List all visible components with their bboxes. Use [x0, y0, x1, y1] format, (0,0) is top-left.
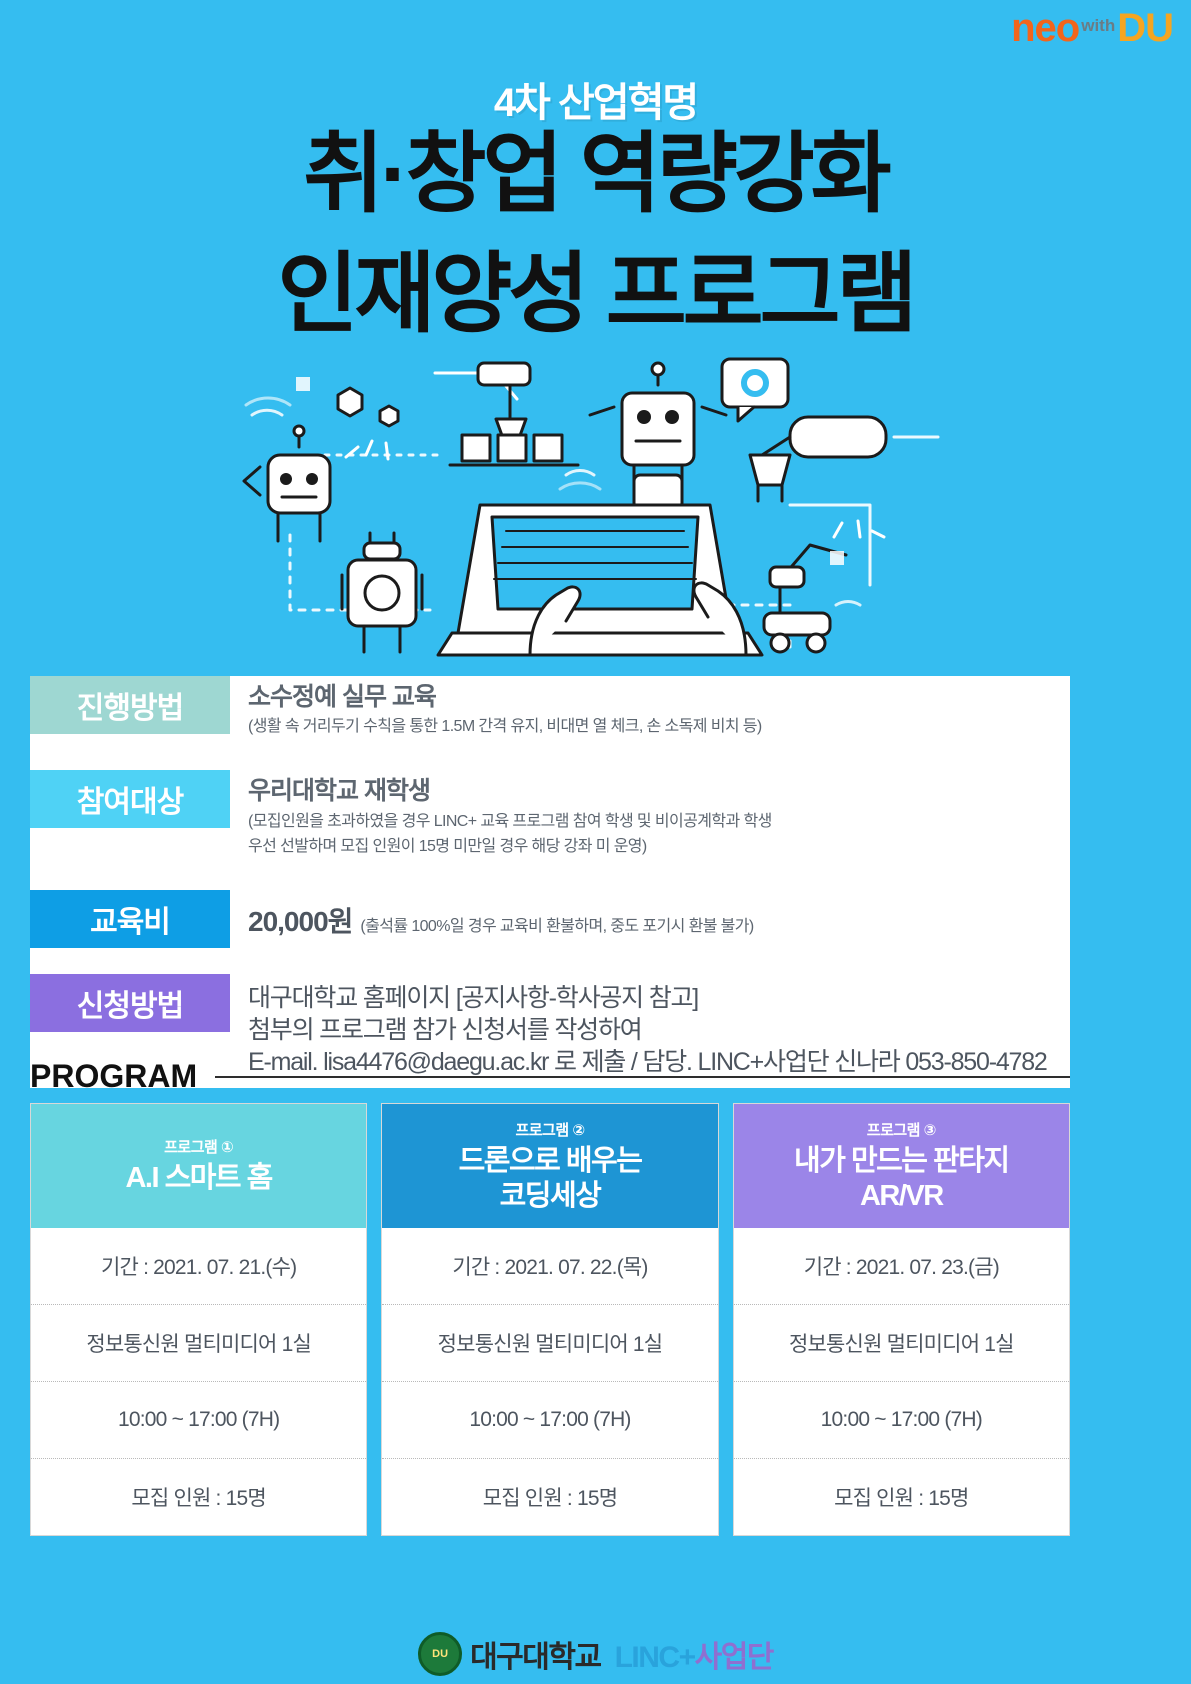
row-divider-1 — [30, 744, 1070, 770]
info-body-fee: 20,000원 (출석률 100%일 경우 교육비 환불하며, 중도 포기시 환… — [230, 890, 1070, 946]
info-body-target: 우리대학교 재학생 (모집인원을 초과하였을 경우 LINC+ 교육 프로그램 … — [230, 770, 1070, 864]
info-label-method: 진행방법 — [30, 676, 230, 734]
logo-with-text: with — [1081, 17, 1115, 34]
main-title-line-2: 인재양성 프로그램 — [0, 248, 1191, 340]
program-card-2-title-line-2: 코딩세상 — [459, 1179, 642, 1213]
program-card-3-place: 정보통신원 멀티미디어 1실 — [734, 1305, 1069, 1382]
program-card-3-time: 10:00 ~ 17:00 (7H) — [734, 1382, 1069, 1459]
industry-illustration — [230, 355, 960, 675]
university-seal-icon: DU — [418, 1632, 462, 1676]
linc-logo: LINC+사업단 — [615, 1632, 773, 1676]
program-card-1-period: 기간 : 2021. 07. 21.(수) — [31, 1228, 366, 1305]
linc-division-text: 사업단 — [695, 1641, 773, 1674]
program-heading-rule — [215, 1076, 1070, 1078]
program-heading-text: PROGRAM — [30, 1058, 197, 1095]
info-row-method: 진행방법 소수정예 실무 교육 (생활 속 거리두기 수칙을 통한 1.5M 간… — [30, 676, 1070, 744]
program-section-header: PROGRAM — [30, 1058, 1070, 1095]
program-card-2[interactable]: 프로그램 ② 드론으로 배우는 코딩세상 기간 : 2021. 07. 22.(… — [381, 1103, 718, 1536]
info-row-fee: 교육비 20,000원 (출석률 100%일 경우 교육비 환불하며, 중도 포… — [30, 890, 1070, 948]
program-card-2-title-line-1: 드론으로 배우는 — [459, 1144, 642, 1178]
poster-root: neo with DU 4차 산업혁명 취·창업 역량강화 인재양성 프로그램 — [0, 0, 1191, 1684]
program-card-1-title: A.I 스마트 홈 — [125, 1161, 271, 1195]
info-label-target: 참여대상 — [30, 770, 230, 828]
program-card-1-place: 정보통신원 멀티미디어 1실 — [31, 1305, 366, 1382]
footer-logos: DU 대구대학교 LINC+사업단 — [0, 1632, 1191, 1676]
university-logo: DU 대구대학교 — [418, 1632, 601, 1676]
program-card-3-title: 내가 만드는 판타지 AR/VR — [794, 1144, 1009, 1212]
main-title-line-1: 취·창업 역량강화 — [0, 128, 1191, 220]
info-sub-target-1: (모집인원을 초과하였을 경우 LINC+ 교육 프로그램 참여 학생 및 비이… — [248, 810, 1070, 833]
conveyor-boxes — [450, 435, 578, 465]
eyebrow-title: 4차 산업혁명 — [0, 70, 1191, 128]
linc-plus-text: LINC+ — [615, 1641, 695, 1674]
logo-du-text: DU — [1117, 8, 1173, 48]
program-card-1-tag: 프로그램 ① — [164, 1136, 233, 1157]
program-card-2-capacity: 모집 인원 : 15명 — [382, 1459, 717, 1535]
info-label-apply: 신청방법 — [30, 974, 230, 1032]
info-row-target: 참여대상 우리대학교 재학생 (모집인원을 초과하였을 경우 LINC+ 교육 … — [30, 770, 1070, 864]
program-card-2-period: 기간 : 2021. 07. 22.(목) — [382, 1228, 717, 1305]
fee-note: (출석률 100%일 경우 교육비 환불하며, 중도 포기시 환불 불가) — [360, 912, 753, 936]
info-sub-method-1: (생활 속 거리두기 수칙을 통한 1.5M 간격 유지, 비대면 열 체크, … — [248, 715, 1070, 738]
fee-amount: 20,000원 — [248, 900, 352, 940]
program-card-3-title-line-2: AR/VR — [794, 1179, 1009, 1213]
program-card-3-title-line-1: 내가 만드는 판타지 — [794, 1144, 1009, 1178]
program-card-2-place: 정보통신원 멀티미디어 1실 — [382, 1305, 717, 1382]
row-divider-3 — [30, 948, 1070, 974]
robot-arm-right — [750, 417, 938, 501]
info-main-method: 소수정예 실무 교육 — [248, 682, 1070, 713]
university-seal-text: DU — [432, 1648, 448, 1660]
program-card-1[interactable]: 프로그램 ① A.I 스마트 홈 기간 : 2021. 07. 21.(수) 정… — [30, 1103, 367, 1536]
program-card-2-time: 10:00 ~ 17:00 (7H) — [382, 1382, 717, 1459]
university-name: 대구대학교 — [470, 1632, 601, 1676]
rover-arm — [764, 545, 860, 652]
info-body-method: 소수정예 실무 교육 (생활 속 거리두기 수칙을 통한 1.5M 간격 유지,… — [230, 676, 1070, 744]
robot-left — [244, 398, 330, 541]
logo-neo-text: neo — [1011, 8, 1079, 48]
program-card-1-time: 10:00 ~ 17:00 (7H) — [31, 1382, 366, 1459]
program-card-3-capacity: 모집 인원 : 15명 — [734, 1459, 1069, 1535]
program-card-3-header: 프로그램 ③ 내가 만드는 판타지 AR/VR — [734, 1104, 1069, 1228]
robot-center — [590, 363, 726, 509]
apply-line-1: 대구대학교 홈페이지 [공지사항-학사공지 참고] — [248, 982, 1047, 1014]
row-divider-2 — [30, 864, 1070, 890]
settings-bubble — [722, 359, 788, 421]
info-sub-target-2: 우선 선발하며 모집 인원이 15명 미만일 경우 해당 강좌 미 운영) — [248, 835, 1070, 858]
program-card-3-tag: 프로그램 ③ — [867, 1119, 936, 1140]
info-panel: 진행방법 소수정예 실무 교육 (생활 속 거리두기 수칙을 통한 1.5M 간… — [30, 676, 1070, 1088]
program-card-1-capacity: 모집 인원 : 15명 — [31, 1459, 366, 1535]
neo-with-du-logo: neo with DU — [1011, 8, 1173, 48]
program-card-3-period: 기간 : 2021. 07. 23.(금) — [734, 1228, 1069, 1305]
robot-arm-top — [435, 363, 530, 441]
apply-line-2: 첨부의 프로그램 참가 신청서를 작성하여 — [248, 1014, 1047, 1046]
info-label-fee: 교육비 — [30, 890, 230, 948]
program-card-2-header: 프로그램 ② 드론으로 배우는 코딩세상 — [382, 1104, 717, 1228]
program-card-1-header: 프로그램 ① A.I 스마트 홈 — [31, 1104, 366, 1228]
program-card-list: 프로그램 ① A.I 스마트 홈 기간 : 2021. 07. 21.(수) 정… — [30, 1103, 1070, 1536]
info-main-target: 우리대학교 재학생 — [248, 776, 1070, 807]
program-card-2-title: 드론으로 배우는 코딩세상 — [459, 1144, 642, 1212]
program-card-3[interactable]: 프로그램 ③ 내가 만드는 판타지 AR/VR 기간 : 2021. 07. 2… — [733, 1103, 1070, 1536]
laptop-with-hands — [438, 505, 762, 655]
robot-small — [342, 533, 422, 652]
program-card-2-tag: 프로그램 ② — [515, 1119, 584, 1140]
